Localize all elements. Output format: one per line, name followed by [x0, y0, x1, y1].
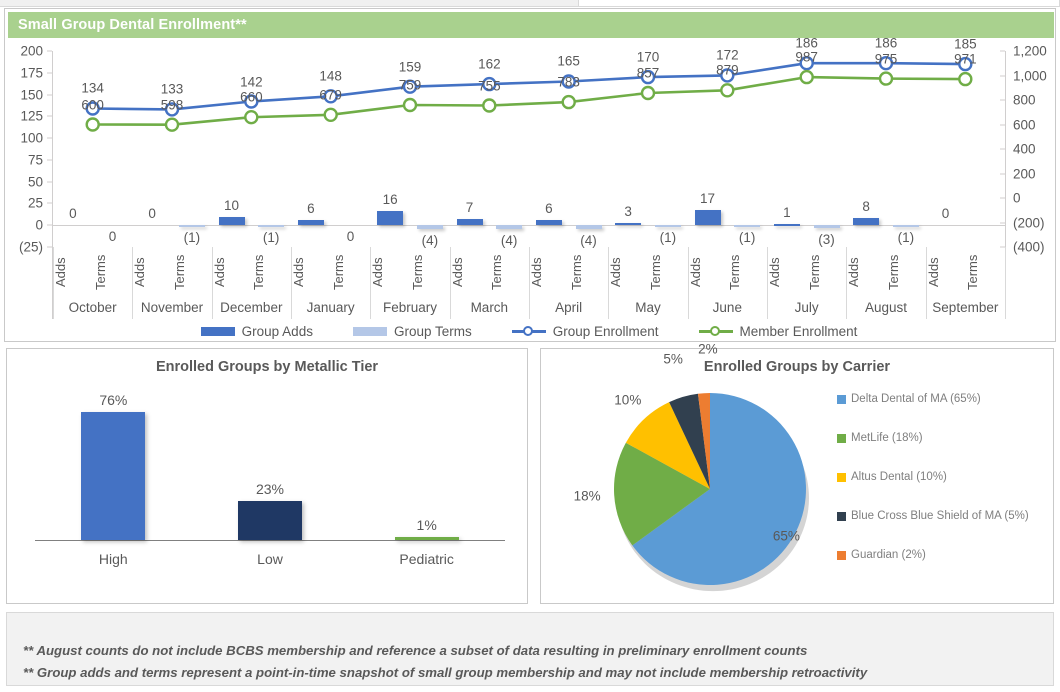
category-month-label: July: [767, 297, 846, 317]
y-left-tick: 175: [20, 65, 43, 80]
group-adds-bar: [774, 224, 800, 226]
pie-legend-item[interactable]: Blue Cross Blue Shield of MA (5%): [837, 510, 1029, 522]
y-left-tick: 25: [28, 196, 43, 211]
member-enrollment-label: 600: [81, 97, 104, 112]
group-enrollment-label: 133: [161, 82, 184, 97]
category-sublabel-terms: Terms: [172, 249, 212, 295]
category-sublabel-adds: Adds: [291, 249, 331, 295]
pie-legend-item[interactable]: Delta Dental of MA (65%): [837, 393, 981, 405]
y-left-tick: 125: [20, 109, 43, 124]
y-left-tick: 200: [20, 44, 43, 59]
member-enrollment-marker: [721, 84, 733, 96]
category-sublabel-terms: Terms: [489, 249, 529, 295]
category-sublabel-terms: Terms: [93, 249, 133, 295]
category-month-label: June: [688, 297, 767, 317]
group-enrollment-label: 172: [716, 48, 739, 63]
legend-line-icon: [699, 326, 733, 336]
group-terms-bar: [814, 225, 840, 228]
category-month-label: May: [608, 297, 687, 317]
carrier-pie-title: Enrolled Groups by Carrier: [541, 359, 1053, 375]
y-right-tick: (400): [1013, 240, 1045, 255]
group-enrollment-line: [93, 63, 966, 109]
pie-svg: [585, 385, 835, 597]
member-enrollment-label: 660: [240, 90, 263, 105]
pie-legend-item[interactable]: Guardian (2%): [837, 549, 926, 561]
category-month-label: March: [450, 297, 529, 317]
category-sublabel-terms: Terms: [886, 249, 926, 295]
chart-legend: Group AddsGroup TermsGroup EnrollmentMem…: [53, 321, 1005, 341]
group-terms-bar: [576, 225, 602, 228]
footnotes-panel: ** August counts do not include BCBS mem…: [6, 612, 1054, 686]
group-adds-label: 7: [466, 200, 474, 215]
pie-slice-label: 5%: [663, 352, 683, 367]
category-sublabel-terms: Terms: [569, 249, 609, 295]
group-adds-label: 6: [307, 201, 315, 216]
group-terms-label: (1): [184, 230, 201, 245]
legend-item[interactable]: Group Terms: [353, 324, 472, 339]
group-adds-bar: [377, 211, 403, 225]
tier-category-label: High: [99, 551, 128, 567]
group-adds-bar: [298, 220, 324, 225]
member-enrollment-label: 783: [557, 75, 580, 90]
y-right-tick: 400: [1013, 142, 1036, 157]
category-sublabel-adds: Adds: [212, 249, 252, 295]
y-left-tick: 150: [20, 87, 43, 102]
category-month-label: January: [291, 297, 370, 317]
enrollment-plot-area: 000(1)10(1)6016(4)7(4)6(4)3(1)17(1)1(3)8…: [53, 51, 1005, 247]
category-month-label: November: [132, 297, 211, 317]
group-terms-label: (4): [501, 233, 518, 248]
group-enrollment-label: 186: [795, 36, 818, 51]
group-adds-bar: [615, 223, 641, 226]
group-terms-label: (4): [422, 233, 439, 248]
dashboard-page: Small Group Dental Enrollment** 20017515…: [0, 0, 1060, 692]
legend-item[interactable]: Member Enrollment: [699, 324, 858, 339]
group-terms-bar: [734, 225, 760, 227]
y-right-tick: 1,000: [1013, 68, 1047, 83]
group-enrollment-label: 159: [399, 59, 422, 74]
page-title: Small Group Dental Enrollment**: [8, 12, 1054, 38]
category-month-label: February: [370, 297, 449, 317]
category-sublabel-adds: Adds: [688, 249, 728, 295]
legend-item[interactable]: Group Enrollment: [512, 324, 659, 339]
pie-slice-label: 2%: [698, 341, 718, 356]
category-sublabel-terms: Terms: [965, 249, 1005, 295]
y-left-tick: 50: [28, 174, 43, 189]
group-terms-label: (1): [263, 230, 280, 245]
group-adds-label: 17: [700, 191, 715, 206]
category-sublabel-terms: Terms: [331, 249, 371, 295]
group-enrollment-label: 162: [478, 57, 501, 72]
category-month-label: October: [53, 297, 132, 317]
category-separator: [1005, 247, 1006, 319]
member-enrollment-marker: [166, 119, 178, 131]
pie-slice-label: 65%: [773, 528, 800, 543]
member-enrollment-label: 598: [161, 97, 184, 112]
group-enrollment-label: 142: [240, 74, 263, 89]
member-enrollment-marker: [959, 73, 971, 85]
group-terms-bar: [417, 225, 443, 228]
category-month-label: December: [212, 297, 291, 317]
group-terms-bar: [893, 225, 919, 227]
legend-label: Member Enrollment: [740, 324, 858, 339]
group-terms-label: 0: [347, 229, 355, 244]
tier-bar: [238, 501, 302, 540]
y-left-tick: (25): [19, 240, 43, 255]
metallic-tier-panel: Enrolled Groups by Metallic Tier 76%High…: [6, 348, 528, 604]
category-month-label: August: [846, 297, 925, 317]
group-adds-bar: [457, 219, 483, 225]
member-enrollment-line: [93, 77, 966, 125]
member-enrollment-label: 971: [954, 52, 977, 67]
member-enrollment-label: 759: [399, 78, 422, 93]
pie-legend-swatch-icon: [837, 395, 846, 404]
group-adds-label: 0: [148, 206, 156, 221]
group-adds-label: 3: [624, 204, 632, 219]
group-adds-label: 8: [862, 199, 870, 214]
legend-item[interactable]: Group Adds: [201, 324, 313, 339]
metallic-tier-title: Enrolled Groups by Metallic Tier: [7, 359, 527, 375]
group-adds-bar: [219, 217, 245, 226]
y-right-tick: 200: [1013, 166, 1036, 181]
group-enrollment-label: 186: [875, 36, 898, 51]
group-adds-label: 6: [545, 201, 553, 216]
carrier-pie-plot: 65%18%10%5%2%: [585, 385, 835, 597]
group-terms-label: (1): [898, 230, 915, 245]
tier-category-label: Pediatric: [399, 551, 453, 567]
y-right-tick: 0: [1013, 191, 1021, 206]
carrier-pie-panel: Enrolled Groups by Carrier 65%18%10%5%2%…: [540, 348, 1054, 604]
footnote-2: ** Group adds and terms represent a poin…: [23, 665, 867, 680]
top-strip-right: [578, 0, 1060, 7]
group-adds-label: 1: [783, 205, 791, 220]
enrollment-chart-panel: Small Group Dental Enrollment** 20017515…: [4, 8, 1056, 342]
group-terms-bar: [179, 225, 205, 227]
group-terms-label: (3): [818, 232, 835, 247]
pie-legend-label: Blue Cross Blue Shield of MA (5%): [851, 510, 1029, 522]
member-enrollment-marker: [642, 87, 654, 99]
legend-swatch-icon: [201, 327, 235, 336]
member-enrollment-marker: [801, 71, 813, 83]
category-sublabel-adds: Adds: [529, 249, 569, 295]
pie-slice-label: 18%: [574, 489, 601, 504]
y-left-tick: 100: [20, 131, 43, 146]
group-adds-bar: [695, 210, 721, 225]
group-enrollment-label: 185: [954, 37, 977, 52]
pie-legend-swatch-icon: [837, 434, 846, 443]
member-enrollment-marker: [245, 111, 257, 123]
category-sublabel-adds: Adds: [846, 249, 886, 295]
category-sublabel-terms: Terms: [727, 249, 767, 295]
enrollment-plot-wrap: 2001751501251007550250(25) 1,2001,000800…: [5, 41, 1057, 341]
member-enrollment-label: 679: [319, 87, 342, 102]
member-enrollment-label: 857: [637, 66, 660, 81]
category-axis: AddsTermsOctoberAddsTermsNovemberAddsTer…: [53, 247, 1005, 319]
tier-bar: [81, 412, 145, 539]
member-enrollment-marker: [563, 96, 575, 108]
y-axis-right: 1,2001,0008006004002000(200)(400): [1005, 51, 1059, 236]
pie-legend-swatch-icon: [837, 551, 846, 560]
y-right-tick: 600: [1013, 117, 1036, 132]
tier-baseline: [35, 540, 505, 542]
tier-category-label: Low: [257, 551, 283, 567]
member-enrollment-marker: [87, 119, 99, 131]
group-enrollment-label: 134: [81, 81, 104, 96]
tier-bar-value: 76%: [99, 392, 127, 408]
y-axis-left: 2001751501251007550250(25): [5, 51, 47, 236]
pie-legend-item[interactable]: Altus Dental (10%): [837, 471, 947, 483]
member-enrollment-label: 755: [478, 78, 501, 93]
group-adds-label: 0: [942, 206, 950, 221]
group-adds-bar: [536, 220, 562, 225]
pie-legend-label: Delta Dental of MA (65%): [851, 393, 981, 405]
y-left-tick: 75: [28, 152, 43, 167]
group-terms-label: 0: [109, 229, 117, 244]
category-sublabel-terms: Terms: [410, 249, 450, 295]
pie-legend-item[interactable]: MetLife (18%): [837, 432, 923, 444]
y-right-tick: 1,200: [1013, 44, 1047, 59]
legend-label: Group Enrollment: [553, 324, 659, 339]
carrier-pie-legend: Delta Dental of MA (65%)MetLife (18%)Alt…: [837, 393, 1051, 573]
category-month-label: April: [529, 297, 608, 317]
top-strip-left: [0, 0, 578, 7]
category-sublabel-adds: Adds: [767, 249, 807, 295]
member-enrollment-marker: [880, 73, 892, 85]
member-enrollment-label: 975: [875, 51, 898, 66]
category-sublabel-terms: Terms: [807, 249, 847, 295]
pie-legend-label: Guardian (2%): [851, 549, 926, 561]
group-adds-label: 0: [69, 206, 77, 221]
category-sublabel-terms: Terms: [251, 249, 291, 295]
group-terms-label: (1): [739, 230, 756, 245]
tier-bar-value: 1%: [417, 517, 437, 533]
legend-label: Group Terms: [394, 324, 472, 339]
member-enrollment-label: 987: [795, 50, 818, 65]
group-enrollment-label: 170: [637, 50, 660, 65]
group-adds-label: 10: [224, 198, 239, 213]
pie-legend-label: Altus Dental (10%): [851, 471, 947, 483]
group-adds-label: 16: [383, 192, 398, 207]
group-terms-label: (4): [580, 233, 597, 248]
y-right-tick: (200): [1013, 215, 1045, 230]
category-sublabel-adds: Adds: [608, 249, 648, 295]
top-strip: [0, 0, 1060, 8]
y-right-tick: 800: [1013, 93, 1036, 108]
category-sublabel-adds: Adds: [132, 249, 172, 295]
category-sublabel-adds: Adds: [370, 249, 410, 295]
legend-swatch-icon: [353, 327, 387, 336]
tier-bar: [395, 537, 459, 540]
category-sublabel-terms: Terms: [648, 249, 688, 295]
member-enrollment-label: 879: [716, 63, 739, 78]
member-enrollment-marker: [483, 100, 495, 112]
legend-line-icon: [512, 326, 546, 336]
group-terms-bar: [496, 225, 522, 228]
pie-legend-label: MetLife (18%): [851, 432, 923, 444]
pie-legend-swatch-icon: [837, 473, 846, 482]
group-adds-bar: [853, 218, 879, 225]
member-enrollment-marker: [404, 99, 416, 111]
pie-legend-swatch-icon: [837, 512, 846, 521]
pie-slice-label: 10%: [614, 392, 641, 407]
y-left-tick: 0: [35, 218, 43, 233]
category-sublabel-adds: Adds: [450, 249, 490, 295]
metallic-tier-plot: 76%High23%Low1%Pediatric: [35, 387, 505, 567]
group-terms-bar: [655, 225, 681, 227]
tier-bar-value: 23%: [256, 481, 284, 497]
category-sublabel-adds: Adds: [926, 249, 966, 295]
category-sublabel-adds: Adds: [53, 249, 93, 295]
group-enrollment-label: 165: [557, 54, 580, 69]
legend-label: Group Adds: [242, 324, 313, 339]
member-enrollment-marker: [325, 109, 337, 121]
group-terms-label: (1): [660, 230, 677, 245]
group-enrollment-label: 148: [319, 69, 342, 84]
footnote-1: ** August counts do not include BCBS mem…: [23, 643, 807, 658]
category-month-label: September: [926, 297, 1005, 317]
group-terms-bar: [258, 225, 284, 227]
